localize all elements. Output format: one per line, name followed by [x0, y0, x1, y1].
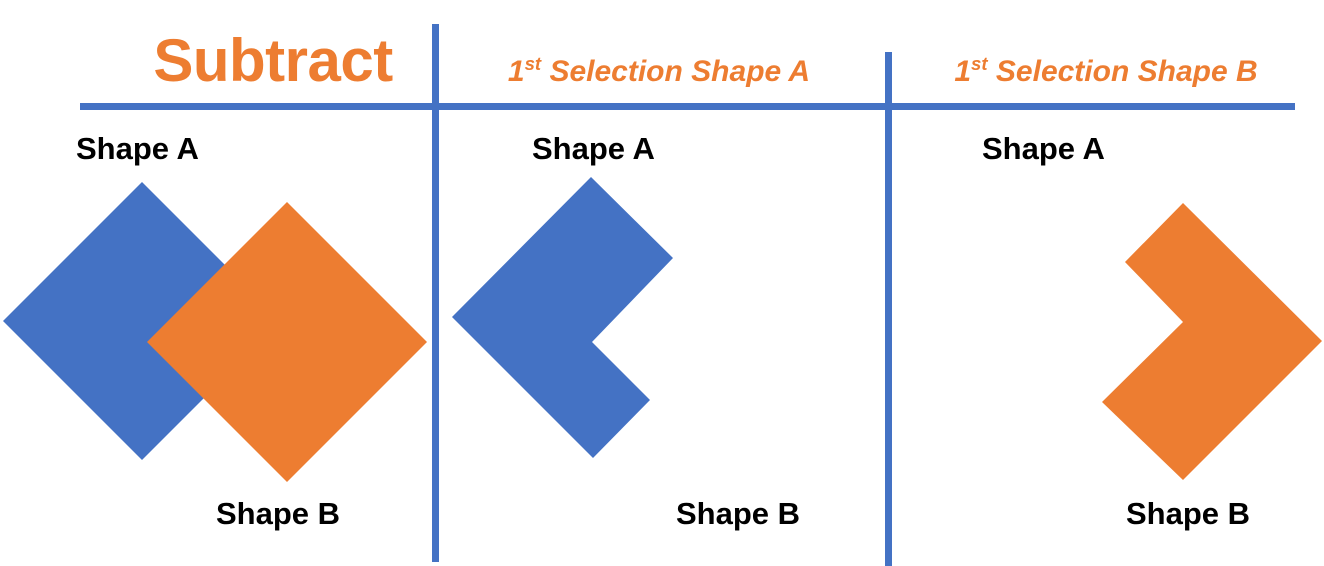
panel-3-shape-b-label: Shape B: [1126, 496, 1250, 532]
header-horizontal-rule: [80, 103, 1295, 110]
column-3-title-ordinal-suffix: st: [971, 53, 988, 74]
column-divider-1: [432, 24, 439, 562]
shape-b-diamond-orange: [147, 202, 427, 482]
column-2-title-prefix: 1: [508, 55, 525, 88]
shape-a-diamond-blue: [3, 182, 281, 460]
panel-1-shape-a-label: Shape A: [76, 131, 199, 167]
column-2-title-ordinal-suffix: st: [525, 53, 542, 74]
panel-3-shape-a-label: Shape A: [982, 131, 1105, 167]
column-3-title-rest: Selection Shape B: [988, 55, 1258, 88]
result-shape-a-minus-b: [452, 177, 673, 458]
result-shape-b-minus-a: [1102, 203, 1322, 480]
panel-2-shape-b-label: Shape B: [676, 496, 800, 532]
column-divider-2: [885, 52, 892, 566]
panel-2-shape-a-label: Shape A: [532, 131, 655, 167]
panel-1-shape-b-label: Shape B: [216, 496, 340, 532]
subtract-boolean-operation-diagram: Subtract 1st Selection Shape A 1st Selec…: [0, 0, 1324, 566]
page-title: Subtract: [120, 26, 426, 96]
column-2-title: 1st Selection Shape A: [444, 52, 874, 92]
column-2-title-rest: Selection Shape A: [541, 55, 810, 88]
column-3-title-prefix: 1: [954, 55, 971, 88]
column-3-title: 1st Selection Shape B: [896, 52, 1316, 92]
